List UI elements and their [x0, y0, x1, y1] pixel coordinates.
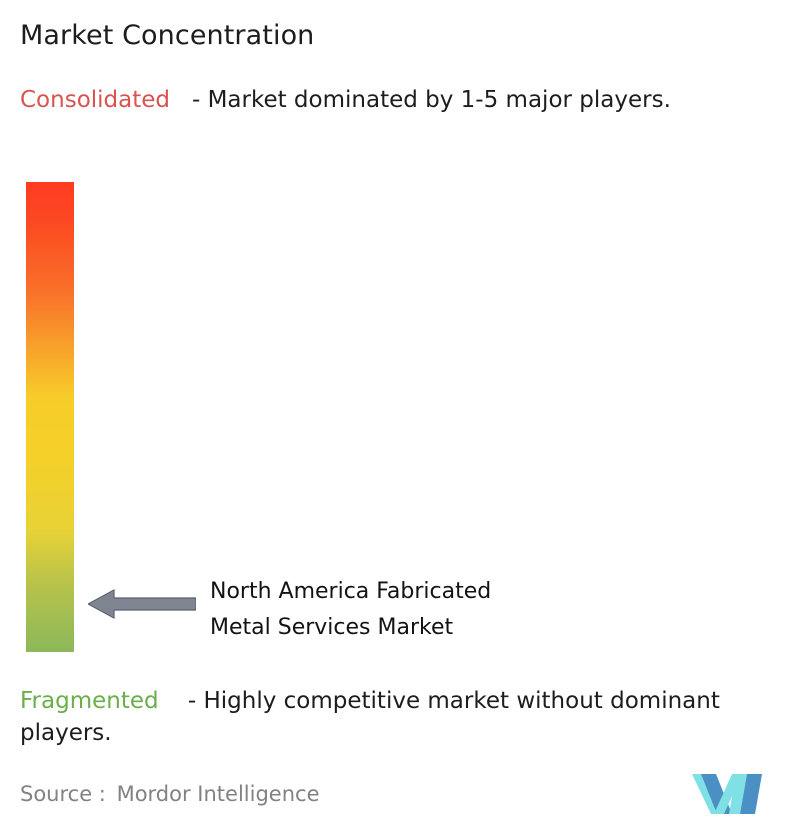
- source-label: Source :: [20, 782, 106, 806]
- source-value: Mordor Intelligence: [117, 782, 320, 806]
- market-position-label-line2: Metal Services Market: [210, 610, 640, 646]
- legend-consolidated: Consolidated - Market dominated by 1-5 m…: [20, 84, 776, 116]
- market-position-arrow: [88, 589, 196, 619]
- source-attribution: Source : Mordor Intelligence: [20, 782, 319, 806]
- legend-consolidated-term: Consolidated: [20, 87, 170, 113]
- legend-consolidated-description: - Market dominated by 1-5 major players.: [192, 87, 671, 113]
- market-position-label: North America Fabricated Metal Services …: [210, 574, 640, 646]
- left-arrow-icon: [88, 589, 196, 619]
- brand-logo-icon: [692, 770, 764, 818]
- page-title: Market Concentration: [20, 20, 314, 51]
- legend-fragmented-term: Fragmented: [20, 688, 159, 714]
- market-concentration-gradient-bar: [26, 182, 74, 652]
- legend-fragmented: Fragmented - Highly competitive market w…: [20, 685, 790, 749]
- mordor-intelligence-logo: [692, 770, 764, 818]
- market-position-label-line1: North America Fabricated: [210, 574, 640, 610]
